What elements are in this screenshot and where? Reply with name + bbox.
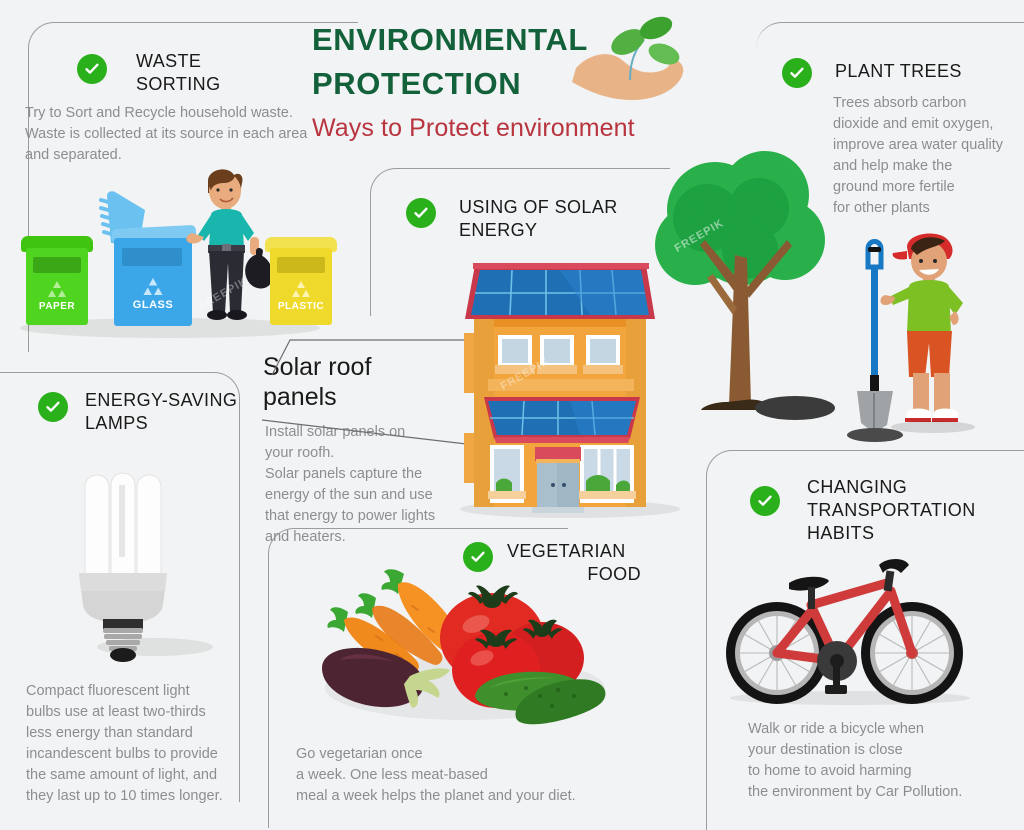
section-body-transportation: Walk or ride a bicycle when your destina… [748, 719, 1024, 803]
title-line-2: SORTING [136, 73, 326, 96]
check-icon-solar-energy [406, 198, 436, 228]
section-title-waste-sorting: WASTE SORTING [136, 50, 326, 96]
check-icon-transportation [750, 486, 780, 516]
infographic-canvas: ENVIRONMENTAL PROTECTION Ways to Protect… [0, 0, 1024, 819]
section-title-transportation: CHANGING TRANSPORTATION HABITS [807, 476, 1024, 545]
check-icon-energy-lamps [38, 392, 68, 422]
check-icon-waste-sorting [77, 54, 107, 84]
vegetables-illustration [300, 548, 610, 733]
check-icon-plant-trees [782, 58, 812, 88]
section-title-solar-energy: USING OF SOLAR ENERGY [459, 196, 689, 242]
bicycle-illustration [715, 543, 980, 713]
boy-with-shovel-illustration [835, 225, 985, 450]
bin-label-paper: PAPER [24, 301, 90, 312]
cfl-bulb-illustration [55, 445, 215, 675]
section-body-plant-trees: Trees absorb carbon dioxide and emit oxy… [833, 93, 1024, 219]
section-title-plant-trees: PLANT TREES [835, 60, 1024, 83]
section-body-vegetarian: Go vegetarian once a week. One less meat… [296, 744, 616, 807]
section-body-waste-sorting: Try to Sort and Recycle household waste.… [25, 103, 345, 166]
house-with-solar-panels-illustration [440, 253, 690, 528]
title-line-1: WASTE [136, 50, 326, 73]
page-subtitle: Ways to Protect environment [312, 114, 732, 143]
hand-holding-seedling-icon [560, 8, 700, 118]
section-title-energy-lamps: ENERGY-SAVING LAMPS [85, 389, 285, 435]
section-body-energy-lamps: Compact fluorescent light bulbs use at l… [26, 681, 256, 807]
